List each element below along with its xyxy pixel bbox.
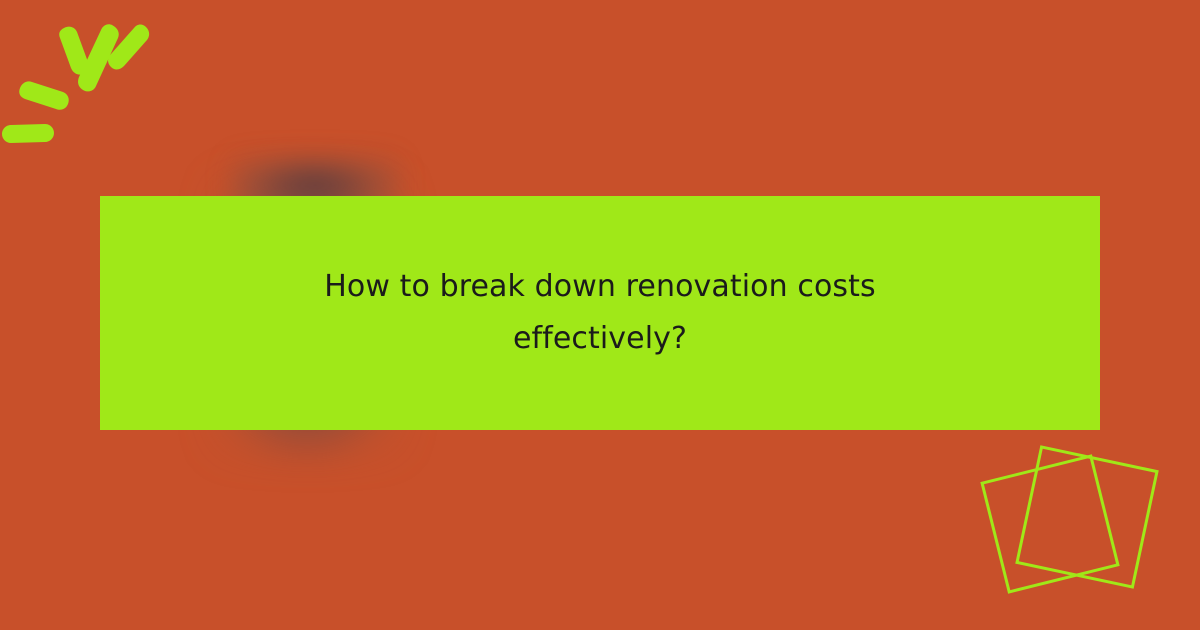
rotated-squares-icon (970, 420, 1200, 630)
sparkle-burst-icon (0, 0, 200, 170)
poster-canvas: How to break down renovation costs effec… (0, 0, 1200, 630)
page-title: How to break down renovation costs effec… (270, 261, 930, 365)
title-banner: How to break down renovation costs effec… (100, 196, 1100, 430)
